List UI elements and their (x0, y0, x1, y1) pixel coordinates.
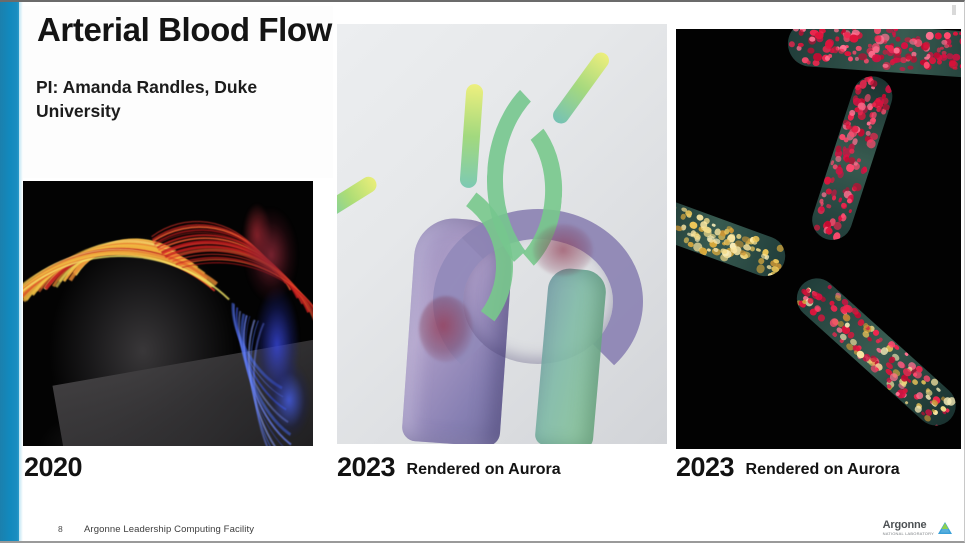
blood-cell (882, 64, 888, 69)
corner-mark (952, 5, 956, 15)
blood-cell (904, 400, 909, 405)
blood-cell (833, 221, 843, 231)
blood-cell (886, 29, 893, 33)
blood-cell (849, 148, 855, 154)
caption-middle-note: Rendered on Aurora (407, 461, 561, 478)
caption-middle-year: 2023 (337, 452, 395, 482)
page-title: Arterial Blood Flow (37, 12, 332, 48)
blood-cell (813, 52, 822, 61)
slide-subtitle: PI: Amanda Randles, Duke University (36, 76, 321, 123)
figure-aorta-aurora-2023 (337, 24, 667, 444)
blood-cell (829, 177, 835, 184)
blood-cell (776, 244, 784, 252)
blood-cell (874, 35, 881, 42)
argonne-wordmark: Argonne NATIONAL LABORATORY (883, 520, 934, 536)
blood-cell (865, 139, 877, 150)
blood-cell (756, 248, 761, 252)
blood-cell (848, 56, 853, 62)
blood-cell (846, 198, 852, 204)
blood-cell (848, 209, 852, 213)
blood-cell (952, 66, 957, 70)
footer-page-number: 8 (58, 524, 63, 534)
blood-cell (856, 46, 862, 51)
figure-bifurcation-aurora-2023 (676, 29, 961, 449)
blood-cell (849, 35, 858, 44)
blood-cell (872, 54, 881, 62)
blue-purple-plume (201, 195, 313, 445)
blood-cell (676, 204, 677, 211)
blood-cell (904, 352, 909, 357)
cell-field (676, 193, 791, 282)
blood-cell (756, 263, 767, 274)
argonne-logo: Argonne NATIONAL LABORATORY (883, 520, 952, 536)
cell-field (789, 270, 961, 434)
blood-cell (960, 63, 961, 70)
blood-cell (959, 31, 961, 35)
blood-cell (806, 60, 811, 64)
blood-cell (843, 137, 849, 143)
blood-cell (820, 201, 824, 206)
blood-cell (901, 42, 908, 49)
blood-cell (688, 221, 698, 231)
cell-field (786, 29, 961, 81)
blood-cell (907, 65, 913, 70)
blood-cell (832, 331, 839, 338)
blood-cell (959, 37, 961, 46)
blood-cell (798, 30, 804, 36)
blood-cell (836, 170, 844, 180)
slide-canvas: Arterial Blood Flow PI: Amanda Randles, … (0, 0, 965, 543)
blood-cell (839, 49, 845, 54)
caption-left-year: 2020 (24, 452, 82, 482)
argonne-wordmark-sub: NATIONAL LABORATORY (883, 532, 934, 536)
blood-cell (935, 52, 941, 58)
blood-cell (926, 54, 930, 59)
blood-cell (831, 195, 836, 201)
argonne-triangle-icon (938, 522, 952, 535)
flow-detail-left (419, 296, 473, 362)
blood-cell (934, 424, 940, 430)
blood-cell (814, 224, 821, 231)
blood-cell (834, 29, 839, 33)
blood-cell (868, 125, 872, 130)
title-block: Arterial Blood Flow PI: Amanda Randles, … (23, 6, 333, 178)
blood-cell (840, 203, 847, 210)
blood-cell (909, 48, 913, 52)
blood-cell (930, 377, 940, 387)
blood-cell (934, 32, 942, 40)
blood-cell (899, 67, 905, 72)
blood-cell (816, 313, 825, 322)
blood-cell (828, 54, 832, 58)
blood-cell (825, 226, 834, 235)
caption-right: 2023 Rendered on Aurora (676, 452, 900, 483)
footer-organization: Argonne Leadership Computing Facility (84, 524, 254, 535)
blood-cell (885, 84, 893, 94)
blood-cell (798, 42, 804, 46)
flow-detail-arch (533, 224, 593, 276)
figure-arterial-streamlines-2020 (23, 181, 313, 446)
blood-cell (826, 204, 831, 209)
blood-cell (767, 272, 773, 278)
cell-field (807, 71, 898, 245)
caption-right-year: 2023 (676, 452, 734, 482)
caption-right-note: Rendered on Aurora (746, 461, 900, 478)
blood-cell (830, 304, 839, 312)
caption-left: 2020 (24, 452, 82, 483)
blood-cell (953, 31, 958, 35)
blood-cell (835, 36, 840, 41)
blood-cell (937, 60, 942, 65)
caption-middle: 2023 Rendered on Aurora (337, 452, 561, 483)
blood-cell (788, 41, 795, 48)
blood-cell (793, 60, 797, 64)
blood-cell (895, 36, 900, 41)
blood-cell (936, 387, 942, 393)
blood-cell (909, 38, 917, 45)
blood-cell (712, 223, 716, 227)
blood-cell (887, 45, 894, 51)
blood-cell (841, 238, 846, 243)
blood-cell (911, 378, 919, 386)
blood-cell (893, 48, 900, 54)
argonne-wordmark-main: Argonne (883, 520, 927, 531)
blood-cell (852, 50, 857, 55)
blood-cell (827, 284, 833, 290)
left-accent-bar (0, 2, 21, 543)
blood-cell (925, 31, 933, 40)
blood-cell (873, 29, 881, 35)
blood-cell (944, 44, 950, 49)
